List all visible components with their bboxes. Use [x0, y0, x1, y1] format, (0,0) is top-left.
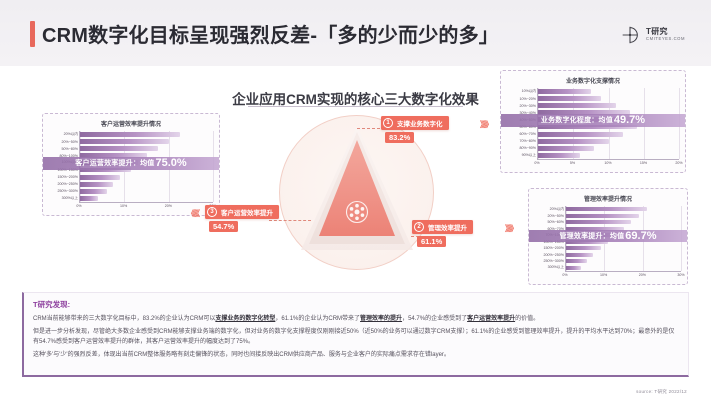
chevron-left-icon-3: 《《《 [187, 208, 199, 219]
chart-xtick-label: 10% [120, 204, 127, 208]
flag-label-2: 管理效率提升 [428, 222, 467, 232]
chart-bar [80, 132, 180, 137]
chart-bar [80, 139, 169, 144]
chart-average-band-business-digital: 业务数字化程度：均值 49.7% [501, 114, 685, 127]
chart-bar [566, 266, 581, 270]
chart-category-label: 300%以上 [62, 196, 78, 201]
chart-bar [80, 146, 158, 151]
chart-bar [538, 153, 580, 158]
chart-card-business-digital: 业务数字化支撑情况 10%以内10%~20%20%~30%30%~40%40%~… [500, 70, 686, 173]
chart-xtick-label: 10% [600, 273, 607, 277]
diagram-flag-3[interactable]: 3 客户运营效率提升 [205, 205, 279, 219]
logo-subtitle: CMITEYES.COM [646, 37, 685, 41]
logo-wordmark: T研究 CMITEYES.COM [646, 28, 685, 42]
chart-average-band-customer-ops: 客户运营效率提升：均值 75.0% [43, 157, 219, 170]
chart-xtick-label: 20% [165, 204, 172, 208]
chart-bar [538, 89, 591, 94]
avg-value-management-eff: 69.7% [625, 230, 656, 242]
chart-title-business-digital: 业务数字化支撑情况 [507, 76, 679, 85]
chart-bar [80, 175, 120, 180]
chevron-right-icon-2: 》》》 [505, 223, 517, 234]
findings-paragraph-2: 但是进一步分析发现，尽管绝大多数企业感受到CRM能够支撑业务端的数字化，但对业务… [33, 327, 679, 348]
section-title-underline [248, 106, 463, 107]
chart-bar-row: 20%~30% [538, 102, 679, 109]
chart-category-label: 150%~200% [58, 175, 78, 179]
chart-bar-row: 300%以上 [566, 265, 681, 272]
chart-bar [566, 253, 593, 257]
avg-value-customer-ops: 75.0% [156, 157, 187, 169]
chart-category-label: 10%~20% [520, 97, 536, 101]
chart-xaxis-management-eff: 0%10%20%30% [565, 272, 681, 280]
chart-xtick-label: 10% [604, 161, 611, 165]
chart-bar [538, 103, 616, 108]
chart-xtick-label: 5% [570, 161, 575, 165]
chart-bar-row: 20%~50% [80, 138, 213, 145]
logo-name: T研究 [646, 28, 685, 36]
findings-p1-e: ，54.7%的企业感受到了 [402, 316, 467, 322]
avg-value-business-digital: 49.7% [614, 114, 645, 126]
title-accent-bar [30, 21, 35, 47]
chart-title-customer-ops: 客户运营效率提升情况 [49, 119, 213, 128]
chart-category-label: 10%以内 [522, 89, 536, 94]
findings-title: T研究发现: [33, 299, 679, 310]
avg-label-customer-ops: 客户运营效率提升：均值 [75, 158, 154, 168]
chart-bar [538, 146, 594, 151]
chart-xtick-label: 20% [639, 273, 646, 277]
flag-label-3: 客户运营效率提升 [221, 207, 273, 217]
chart-category-label: 200%~250% [544, 253, 564, 257]
chart-bar [566, 259, 587, 263]
chart-average-band-management-eff: 管理效率提升：均值 69.7% [529, 230, 687, 242]
chart-xtick-label: 0% [562, 273, 567, 277]
chart-bar-row: 10%~20% [538, 95, 679, 102]
chart-xtick-label: 0% [534, 161, 539, 165]
findings-paragraph-1: CRM当前能够带来的三大数字化目标中，83.2%的企业认为CRM可以支撑业务的数… [33, 314, 679, 325]
chart-bar-row: 20%以内 [80, 131, 213, 138]
chart-bar-row: 60%~70% [538, 131, 679, 138]
chart-xtick-label: 30% [677, 273, 684, 277]
chart-bar-row: 10%以内 [538, 88, 679, 95]
chart-category-label: 150%~200% [544, 246, 564, 250]
diagram-flag-2[interactable]: 2 管理效率提升 [412, 220, 473, 234]
chart-bar [566, 214, 639, 218]
chart-category-label: 60%~70% [520, 132, 536, 136]
chart-xtick-label: 0% [76, 204, 81, 208]
chart-bar-row: 80%~90% [538, 145, 679, 152]
diagram-flag-1[interactable]: 1 支撑业务数字化 [381, 116, 449, 130]
chart-category-label: 70%~80% [520, 139, 536, 143]
chart-category-label: 200%~250% [58, 182, 78, 186]
chart-category-label: 80%~90% [520, 146, 536, 150]
chart-category-label: 20%以内 [64, 132, 78, 137]
findings-p2-a: 但是进一步分析发现，尽管绝大多数企业感受到CRM能够支撑业务端的数字化，但对业务… [33, 329, 674, 346]
chart-title-management-eff: 管理效率提升情况 [535, 194, 681, 203]
findings-p1-g: 的价值。 [515, 316, 539, 322]
slide-header: CRM数字化目标呈现强烈反差-「多的少而少的多」 T研究 CMITEYES.CO… [0, 0, 711, 66]
core-triangle-diagram: 1 支撑业务数字化 83.2% 》》》 2 管理效率提升 61.1% 》》》 3… [245, 110, 470, 275]
chart-bar-row: 50%~80% [80, 145, 213, 152]
diagram-value-1: 83.2% [385, 132, 414, 143]
chart-bar [538, 139, 609, 144]
chart-bar-row: 250%~300% [80, 188, 213, 195]
chart-xtick-label: 20% [675, 161, 682, 165]
chart-bar [80, 189, 107, 194]
chart-bar [80, 182, 113, 187]
chart-bar-row: 300%以上 [80, 195, 213, 202]
brand-logo: T研究 CMITEYES.COM [619, 24, 685, 46]
connector-line-3 [269, 220, 311, 221]
chart-bar [538, 96, 601, 101]
chart-category-label: 50%~60% [548, 220, 564, 224]
avg-label-business-digital: 业务数字化程度：均值 [541, 115, 613, 125]
source-note: source: T研究 2022/12 [636, 389, 687, 395]
chart-category-label: 90%以上 [522, 153, 536, 158]
page-title: CRM数字化目标呈现强烈反差-「多的少而少的多」 [42, 19, 499, 48]
findings-p1-c: ，61.1%的企业认为CRM带来了 [275, 316, 360, 322]
chart-category-label: 250%~300% [544, 259, 564, 263]
diagram-value-2: 61.1% [417, 236, 446, 247]
findings-paragraph-3: 这种'多'与'少'的强烈反差，体现出当前CRM整体服务略有刻走偏锋的状态，同时也… [33, 350, 679, 361]
findings-p1-f: 客户运营效率提升 [467, 316, 515, 322]
chart-category-label: 20%~50% [62, 140, 78, 144]
chart-bar [566, 246, 601, 250]
slide-root: CRM数字化目标呈现强烈反差-「多的少而少的多」 T研究 CMITEYES.CO… [0, 0, 711, 400]
chart-xaxis-business-digital: 0%5%10%15%20% [537, 160, 679, 168]
flag-number-3: 3 [207, 207, 217, 217]
findings-p1-d: 管理效率的提升 [360, 316, 402, 322]
chart-xtick-label: 15% [640, 161, 647, 165]
chart-category-label: 20%~50% [548, 214, 564, 218]
chart-category-label: 20%以内 [550, 207, 564, 212]
chevron-right-icon-1: 》》》 [480, 119, 492, 130]
chart-category-label: 50%~80% [62, 147, 78, 151]
chart-bar [80, 196, 98, 201]
gear-cluster-icon [343, 198, 371, 226]
findings-panel: T研究发现: CRM当前能够带来的三大数字化目标中，83.2%的企业认为CRM可… [22, 292, 689, 377]
chart-category-label: 250%~300% [58, 189, 78, 193]
chart-bar [566, 207, 647, 211]
flag-label-1: 支撑业务数字化 [397, 118, 443, 128]
chart-bar-row: 150%~200% [80, 174, 213, 181]
avg-label-management-eff: 管理效率提升：均值 [559, 231, 624, 241]
chart-category-label: 20%~30% [520, 104, 536, 108]
flag-number-1: 1 [383, 118, 393, 128]
chart-bar [566, 220, 631, 224]
findings-p3: 这种'多'与'少'的强烈反差，体现出当前CRM整体服务略有刻走偏锋的状态，同时也… [33, 352, 450, 358]
chart-bar-row: 200%~250% [80, 181, 213, 188]
chart-bar-row: 70%~80% [538, 138, 679, 145]
chart-bar-row: 90%以上 [538, 152, 679, 159]
findings-p1-a: CRM当前能够带来的三大数字化目标中，83.2%的企业认为CRM可以 [33, 316, 215, 322]
chart-card-customer-ops: 客户运营效率提升情况 20%以内20%~50%50%~80%80%~100%10… [42, 113, 220, 216]
logo-eye-icon [619, 24, 641, 46]
chart-card-management-eff: 管理效率提升情况 20%以内20%~50%50%~60%60%~70%70%~1… [528, 188, 688, 285]
chart-category-label: 300%以上 [548, 265, 564, 270]
findings-p1-b: 支撑业务的数字化转型 [215, 316, 275, 322]
flag-number-2: 2 [414, 222, 424, 232]
diagram-value-3: 54.7% [209, 221, 238, 232]
chart-bar [538, 132, 623, 137]
